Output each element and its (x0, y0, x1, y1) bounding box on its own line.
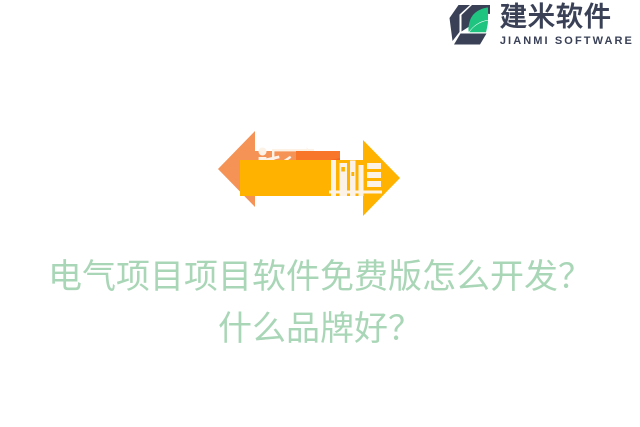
dual-arrow-exchange-graphic (211, 122, 407, 216)
jianmi-leaf-chevron-logo-mark-icon (448, 2, 494, 48)
page-title-line-1: 电气项目项目软件免费版怎么开发？ (0, 251, 640, 303)
brand-name-cn: 建米软件 (500, 4, 634, 31)
brand-name-en: JIANMI SOFTWARE (500, 36, 634, 47)
brand-text-block: 建米软件 JIANMI SOFTWARE (500, 4, 634, 47)
page-title: 电气项目项目软件免费版怎么开发？ 什么品牌好？ (0, 251, 640, 355)
page-title-line-2: 什么品牌好？ (0, 303, 640, 355)
brand-logo[interactable]: 建米软件 JIANMI SOFTWARE (448, 2, 634, 48)
